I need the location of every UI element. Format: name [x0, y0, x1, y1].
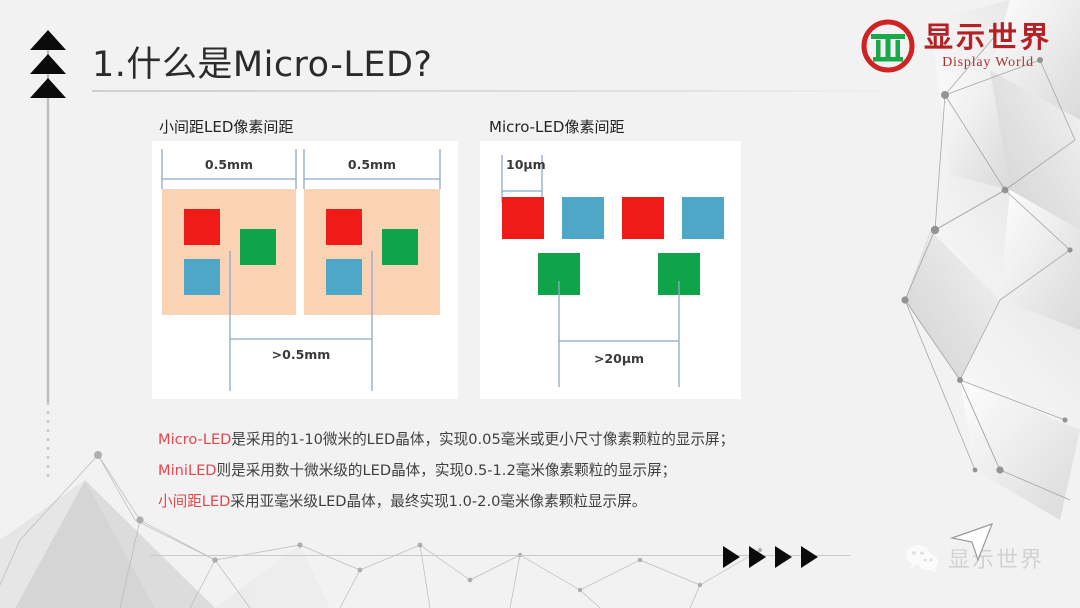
- rail-triangle-icon: [30, 30, 66, 50]
- brand-name-cn: 显示世界: [924, 23, 1052, 52]
- body-line-3-rest: 采用亚毫米级LED晶体，最终实现1.0-2.0毫米像素颗粒显示屏。: [230, 493, 646, 510]
- play-triangle-icon: [775, 546, 792, 568]
- brand-name-en: Display World: [942, 56, 1034, 70]
- slide-root: 1.什么是Micro-LED? 显示世界 Display World 小间距LE…: [0, 0, 1080, 608]
- left-dim-label-2: 0.5mm: [348, 157, 396, 172]
- left-figure-label: 小间距LED像素间距: [159, 116, 293, 137]
- right-figure: 10μm >20μm: [480, 141, 741, 399]
- blue-led-die: [562, 197, 604, 239]
- brand-logo: 显示世界 Display World: [860, 18, 1052, 74]
- wechat-icon: [905, 543, 939, 573]
- green-led-die: [240, 229, 276, 265]
- green-led-die: [382, 229, 418, 265]
- red-led-die: [326, 209, 362, 245]
- red-led-die: [184, 209, 220, 245]
- rail-triangle-icon: [30, 54, 66, 74]
- red-led-die: [622, 197, 664, 239]
- blue-led-die: [682, 197, 724, 239]
- right-dim-label: 10μm: [506, 157, 546, 172]
- body-line-1-rest: 是采用的1-10微米的LED晶体，实现0.05毫米或更小尺寸像素颗粒的显示屏；: [231, 431, 734, 448]
- left-figure: 0.5mm 0.5mm >0.5mm: [152, 141, 458, 399]
- cursor-arrow-icon: [948, 522, 994, 562]
- left-dim-label-1: 0.5mm: [205, 157, 253, 172]
- left-arrow-rail: [26, 22, 70, 482]
- red-led-die: [502, 197, 544, 239]
- right-gap-dim-bracket: [559, 281, 679, 387]
- left-gap-dim-label: >0.5mm: [272, 347, 331, 362]
- footer-arrow-group: [723, 546, 818, 568]
- right-figure-label: Micro-LED像素间距: [489, 116, 624, 137]
- body-line-1: Micro-LED是采用的1-10微米的LED晶体，实现0.05毫米或更小尺寸像…: [158, 424, 918, 455]
- page-title: 1.什么是Micro-LED?: [92, 36, 433, 87]
- blue-led-die: [326, 259, 362, 295]
- title-underline: [92, 90, 882, 92]
- body-line-2-highlight: MiniLED: [158, 462, 217, 479]
- right-gap-dim-label: >20μm: [594, 351, 644, 366]
- blue-led-die: [184, 259, 220, 295]
- body-line-3-highlight: 小间距LED: [158, 493, 230, 510]
- body-text-block: Micro-LED是采用的1-10微米的LED晶体，实现0.05毫米或更小尺寸像…: [158, 424, 918, 517]
- play-triangle-icon: [749, 546, 766, 568]
- circle-seal-logo-icon: [860, 18, 916, 74]
- body-line-2: MiniLED则是采用数十微米级的LED晶体，实现0.5-1.2毫米像素颗粒的显…: [158, 455, 918, 486]
- body-line-3: 小间距LED采用亚毫米级LED晶体，最终实现1.0-2.0毫米像素颗粒显示屏。: [158, 486, 918, 517]
- rail-triangle-icon: [30, 78, 66, 98]
- body-line-2-rest: 则是采用数十微米级的LED晶体，实现0.5-1.2毫米像素颗粒的显示屏；: [217, 462, 677, 479]
- play-triangle-icon: [801, 546, 818, 568]
- play-triangle-icon: [723, 546, 740, 568]
- body-line-1-highlight: Micro-LED: [158, 431, 231, 448]
